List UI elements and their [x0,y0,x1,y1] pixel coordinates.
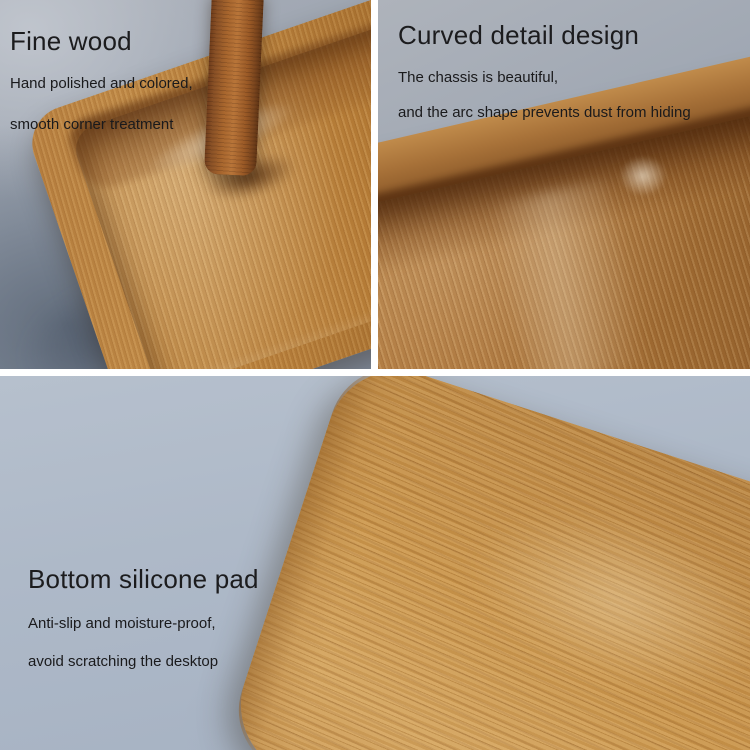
panel-silicone-pad-line-1: Anti-slip and moisture-proof, [28,616,216,631]
panel-fine-wood-heading: Fine wood [10,28,132,54]
panel-curved-detail-line-2: and the arc shape prevents dust from hid… [398,105,691,120]
divider-vertical [371,0,378,376]
wooden-post [204,0,264,176]
divider-horizontal [0,369,750,376]
wooden-board-underside-photo [222,376,750,750]
panel-silicone-pad: Bottom silicone pad Anti-slip and moistu… [0,376,750,750]
panel-silicone-pad-line-2: avoid scratching the desktop [28,654,218,669]
panel-curved-detail: Curved detail design The chassis is beau… [378,0,750,369]
wooden-post-grain [204,0,264,176]
panel-curved-detail-line-1: The chassis is beautiful, [398,70,558,85]
panel-fine-wood-line-1: Hand polished and colored, [10,76,193,91]
panel-curved-detail-heading: Curved detail design [398,22,639,48]
panel-fine-wood-line-2: smooth corner treatment [10,117,173,132]
panel-fine-wood: Fine wood Hand polished and colored, smo… [0,0,371,369]
tray-corner-highlight [610,148,676,204]
panel-silicone-pad-heading: Bottom silicone pad [28,566,259,592]
infographic-canvas: Fine wood Hand polished and colored, smo… [0,0,750,750]
